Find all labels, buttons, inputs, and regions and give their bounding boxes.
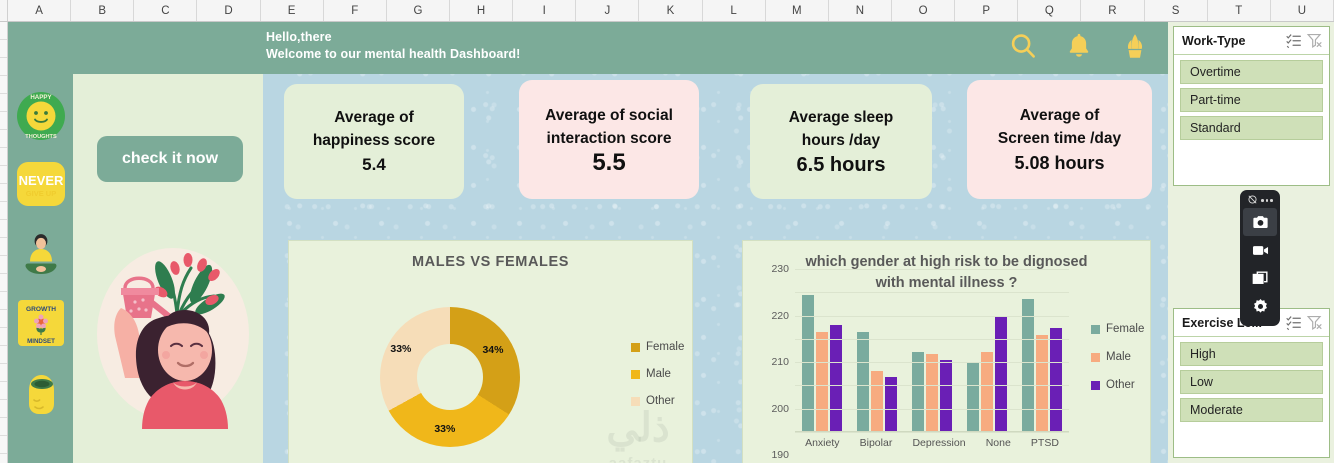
bar-group	[857, 269, 897, 432]
column-header[interactable]: D	[197, 0, 260, 21]
column-header[interactable]: S	[1145, 0, 1208, 21]
column-header[interactable]: B	[71, 0, 134, 21]
slicer-exercise-level: Exercise Le... High	[1173, 308, 1330, 458]
screenshot-icon[interactable]	[1243, 208, 1277, 236]
slicer-item-part-time[interactable]: Part-time	[1180, 88, 1323, 112]
record-video-icon[interactable]	[1243, 236, 1277, 264]
legend-swatch	[1091, 353, 1100, 362]
legend-item: Other	[631, 395, 684, 407]
y-axis-tick-label: 230	[771, 263, 789, 275]
header-icon-group	[1008, 31, 1150, 61]
column-header[interactable]: M	[766, 0, 829, 21]
bar	[981, 352, 993, 432]
bar-chart-plot-area: 160170180190200210220230	[795, 269, 1069, 432]
column-header[interactable]: U	[1271, 0, 1334, 21]
column-header[interactable]: O	[892, 0, 955, 21]
settings-gear-icon[interactable]	[1243, 292, 1277, 320]
slicer-item-moderate[interactable]: Moderate	[1180, 398, 1323, 422]
slicer-item-list: Overtime Part-time Standard	[1174, 55, 1329, 145]
kpi-card-screen-time: Average of Screen time /day 5.08 hours	[967, 80, 1152, 199]
growth-mindset-sticker: GROWTH MINDSET	[14, 298, 68, 356]
kpi-title-line1: Average of social	[545, 104, 673, 127]
legend-item: Other	[1091, 379, 1144, 391]
x-axis-tick-label: None	[986, 437, 1011, 449]
recorder-logo-icon	[1247, 192, 1258, 210]
column-header[interactable]: L	[703, 0, 766, 21]
slicer-item-overtime[interactable]: Overtime	[1180, 60, 1323, 84]
legend-swatch	[631, 370, 640, 379]
svg-text:GROWTH: GROWTH	[25, 306, 55, 313]
legend-swatch	[1091, 325, 1100, 334]
kpi-title-line1: Average of	[334, 106, 414, 129]
legend-item: Male	[631, 368, 684, 380]
gridline: 220	[795, 292, 1069, 293]
gridline: 210	[795, 316, 1069, 317]
recorder-top-row	[1247, 193, 1273, 208]
bar-group	[1022, 269, 1062, 432]
donut-label-female: 34%	[482, 344, 503, 356]
never-give-up-sticker: NEVER GIVE UP	[14, 158, 68, 216]
left-intro-panel: check it now	[73, 74, 263, 463]
column-header[interactable]: Q	[1018, 0, 1081, 21]
bar-chart-x-labels: AnxietyBipolarDepressionNonePTSD	[795, 437, 1069, 449]
dashboard-header-banner: Hello,there Welcome to our mental health…	[8, 22, 1168, 74]
check-it-now-button[interactable]: check it now	[97, 136, 243, 182]
donut-label-other: 33%	[390, 343, 411, 355]
legend-item: Female	[631, 341, 684, 353]
column-header[interactable]: T	[1208, 0, 1271, 21]
kpi-value: 6.5 hours	[797, 152, 886, 178]
column-header[interactable]: E	[261, 0, 324, 21]
column-header[interactable]: A	[8, 0, 71, 21]
column-header[interactable]: N	[829, 0, 892, 21]
column-header[interactable]: K	[639, 0, 702, 21]
gridline: 190	[795, 362, 1069, 363]
wellbeing-illustration	[81, 222, 257, 444]
bar	[1036, 335, 1048, 432]
legend-item: Female	[1091, 323, 1144, 335]
kpi-value: 5.4	[362, 152, 386, 178]
donut-chart-graphic: 34% 33% 33%	[367, 295, 532, 460]
kpi-title-line2: interaction score	[547, 127, 672, 150]
kpi-card-happiness: Average of happiness score 5.4	[284, 84, 464, 199]
column-header[interactable]: J	[576, 0, 639, 21]
greeting-line-1: Hello,there	[266, 29, 520, 46]
legend-swatch	[631, 343, 640, 352]
svg-text:MINDSET: MINDSET	[27, 338, 55, 345]
column-header[interactable]: C	[134, 0, 197, 21]
bar	[926, 354, 938, 432]
slicer-title: Work-Type	[1182, 34, 1281, 48]
legend-label: Female	[1106, 323, 1144, 335]
multi-select-icon[interactable]	[1285, 32, 1302, 49]
svg-text:GIVE UP: GIVE UP	[25, 189, 55, 198]
bar-chart-legend: Female Male Other	[1091, 323, 1144, 391]
spreadsheet-column-headers: A B C D E F G H I J K L M N O P Q R S T …	[0, 0, 1334, 22]
gridline: 160	[795, 432, 1069, 433]
gridline: 170	[795, 409, 1069, 410]
window-capture-icon[interactable]	[1243, 264, 1277, 292]
clear-filter-icon[interactable]	[1306, 314, 1323, 331]
x-axis-tick-label: PTSD	[1031, 437, 1059, 449]
bar	[871, 371, 883, 432]
greeting-line-2: Welcome to our mental health Dashboard!	[266, 46, 520, 63]
column-header[interactable]: F	[324, 0, 387, 21]
clear-filter-icon[interactable]	[1306, 32, 1323, 49]
head-with-plant-sticker	[14, 368, 68, 426]
slicer-item-standard[interactable]: Standard	[1180, 116, 1323, 140]
more-options-icon[interactable]	[1261, 199, 1273, 202]
slicer-item-high[interactable]: High	[1180, 342, 1323, 366]
column-header[interactable]: R	[1081, 0, 1144, 21]
legend-label: Male	[646, 368, 671, 380]
plant-icon[interactable]	[1120, 31, 1150, 61]
kpi-card-social-interaction: Average of social interaction score 5.5	[519, 80, 699, 199]
bar	[1022, 299, 1034, 432]
bar-group	[912, 269, 952, 432]
gridline: 200	[795, 339, 1069, 340]
y-axis-tick-label: 220	[771, 310, 789, 322]
y-axis-tick-label: 190	[771, 449, 789, 461]
legend-label: Other	[1106, 379, 1135, 391]
kpi-title-line1: Average sleep	[789, 106, 894, 129]
meditating-person-sticker	[14, 228, 68, 286]
multi-select-icon[interactable]	[1285, 314, 1302, 331]
greeting-block: Hello,there Welcome to our mental health…	[266, 29, 520, 63]
legend-item: Male	[1091, 351, 1144, 363]
dashboard-canvas: Hello,there Welcome to our mental health…	[8, 22, 1168, 463]
spreadsheet-row-headers	[0, 22, 8, 463]
sticker-rail: HAPPY THOUGHTS NEVER GIVE UP	[8, 74, 73, 463]
x-axis-tick-label: Bipolar	[860, 437, 893, 449]
donut-chart-panel: MALES VS FEMALES 34% 33% 33% Female Male	[288, 240, 693, 463]
x-axis-tick-label: Depression	[912, 437, 965, 449]
kpi-title-line2: hours /day	[802, 129, 880, 152]
dashboard-app: A B C D E F G H I J K L M N O P Q R S T …	[0, 0, 1334, 463]
select-all-corner[interactable]	[0, 0, 8, 21]
donut-chart-title: MALES VS FEMALES	[289, 241, 692, 270]
bar	[912, 352, 924, 432]
kpi-card-sleep-hours: Average sleep hours /day 6.5 hours	[750, 84, 932, 199]
bar-group	[802, 269, 842, 432]
kpi-value: 5.08 hours	[1014, 150, 1104, 176]
column-header[interactable]: P	[955, 0, 1018, 21]
bar	[995, 316, 1007, 432]
legend-label: Female	[646, 341, 684, 353]
kpi-title-line2: Screen time /day	[998, 127, 1121, 150]
donut-chart-legend: Female Male Other	[631, 341, 684, 407]
slicer-item-low[interactable]: Low	[1180, 370, 1323, 394]
column-header[interactable]: I	[513, 0, 576, 21]
bar-chart-panel: which gender at high risk to be dignosed…	[742, 240, 1151, 463]
y-axis-tick-label: 210	[771, 356, 789, 368]
legend-label: Male	[1106, 351, 1131, 363]
bar	[1050, 328, 1062, 432]
slicer-item-list: High Low Moderate	[1174, 337, 1329, 427]
x-axis-tick-label: Anxiety	[805, 437, 839, 449]
svg-text:NEVER: NEVER	[18, 173, 63, 188]
bell-icon[interactable]	[1064, 31, 1094, 61]
gridline: 180	[795, 385, 1069, 386]
search-icon[interactable]	[1008, 31, 1038, 61]
bar	[967, 363, 979, 432]
kpi-title-line1: Average of	[1020, 104, 1100, 127]
y-axis-tick-label: 200	[771, 403, 789, 415]
svg-text:THOUGHTS: THOUGHTS	[25, 134, 57, 140]
slicer-work-type: Work-Type Overtime	[1173, 26, 1330, 186]
legend-label: Other	[646, 395, 675, 407]
gridline: 230	[795, 269, 1069, 270]
bar	[830, 325, 842, 432]
kpi-title-line2: happiness score	[313, 129, 435, 152]
screen-recorder-toolbar	[1240, 190, 1280, 326]
kpi-value: 5.5	[592, 150, 625, 176]
legend-swatch	[631, 397, 640, 406]
column-header[interactable]: G	[387, 0, 450, 21]
svg-text:HAPPY: HAPPY	[30, 94, 52, 101]
bar	[816, 332, 828, 432]
bar	[857, 332, 869, 432]
slicer-header: Work-Type	[1174, 27, 1329, 55]
happy-thoughts-sticker: HAPPY THOUGHTS	[14, 88, 68, 146]
bar-group	[967, 269, 1007, 432]
donut-label-male: 33%	[434, 423, 455, 435]
column-header[interactable]: H	[450, 0, 513, 21]
bar	[940, 360, 952, 432]
bar-groups	[795, 269, 1069, 432]
legend-swatch	[1091, 381, 1100, 390]
